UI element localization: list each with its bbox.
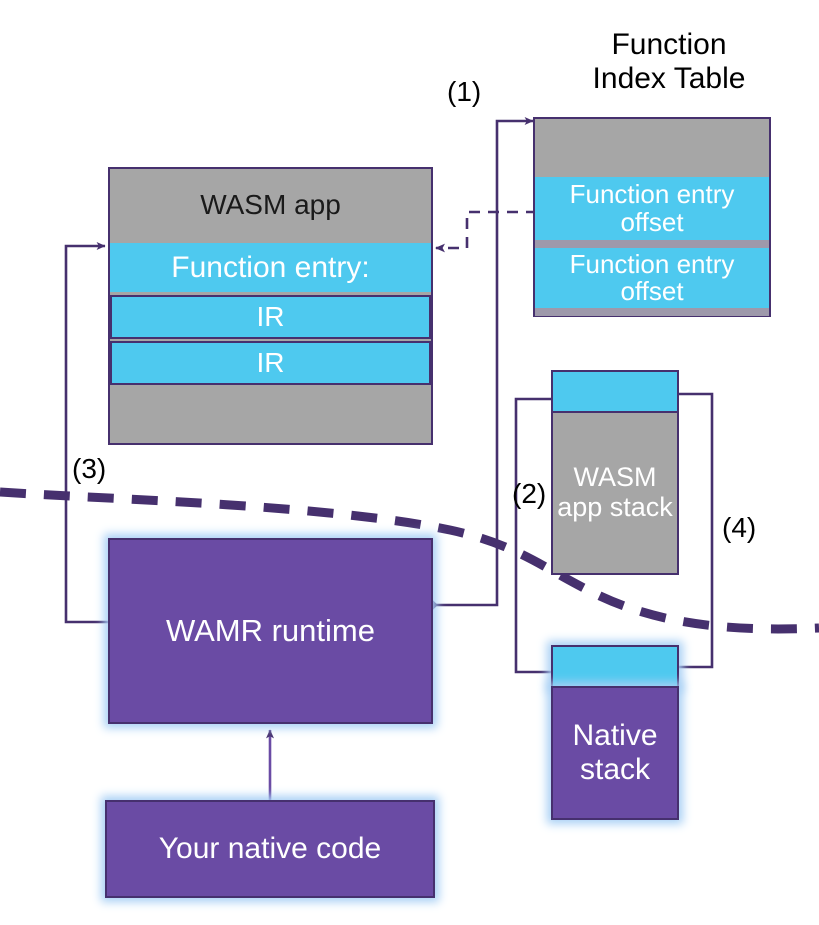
- your-native-code-box: Your native code: [105, 800, 435, 898]
- wasm-app-stack-header: [551, 370, 679, 413]
- fit-entry-2: Function entry offset: [535, 248, 769, 308]
- wasm-app-ir-1-label: IR: [257, 301, 285, 333]
- wasm-app-function-entry: Function entry:: [110, 243, 431, 292]
- wasm-app-stack-body: WASM app stack: [551, 411, 679, 575]
- diagram-canvas: Function Index Table (1) (2) (3) (4) Fun…: [0, 0, 819, 925]
- your-native-code-label: Your native code: [159, 832, 381, 866]
- wasm-app-function-entry-label: Function entry:: [171, 251, 369, 285]
- step-label-4: (4): [722, 512, 756, 544]
- fit-entry-2-label: Function entry offset: [570, 251, 735, 306]
- wamr-runtime-box: WAMR runtime: [108, 538, 433, 724]
- fit-entry-1-label: Function entry offset: [570, 181, 735, 236]
- function-index-table-caption: Function Index Table: [545, 28, 793, 95]
- wasm-app-ir-2-label: IR: [257, 347, 285, 379]
- wasm-app-ir-1: IR: [110, 295, 431, 339]
- fit-entry-1: Function entry offset: [535, 177, 769, 240]
- step-label-2: (2): [512, 478, 546, 510]
- step-label-3: (3): [72, 453, 106, 485]
- wasm-app-ir-2: IR: [110, 341, 431, 385]
- fit-divider-2: [535, 308, 769, 316]
- wire-step-1: [432, 121, 533, 605]
- fit-gray-header: [535, 119, 769, 177]
- wasm-app-footer: [110, 387, 431, 443]
- wasm-app-header-label: WASM app: [200, 189, 341, 221]
- wire-step-3: [66, 246, 108, 622]
- fit-divider-1: [535, 240, 769, 248]
- native-stack-label: Native stack: [553, 719, 677, 787]
- wamr-runtime-label: WAMR runtime: [166, 613, 375, 649]
- native-stack-header: [551, 645, 679, 688]
- step-label-1: (1): [447, 76, 481, 108]
- wasm-app-header: WASM app: [110, 169, 431, 241]
- wasm-app-stack-label: WASM app stack: [557, 463, 673, 522]
- native-stack-body: Native stack: [551, 686, 679, 820]
